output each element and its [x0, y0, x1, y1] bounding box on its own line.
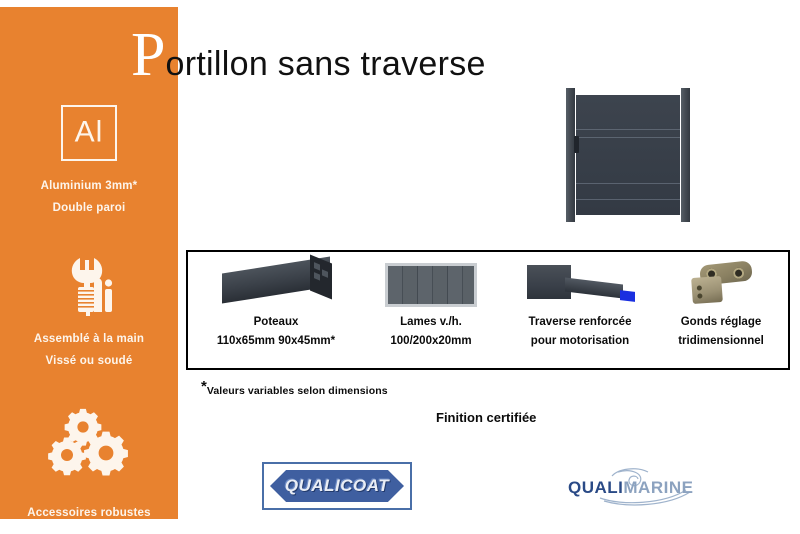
feature-label-poteaux-2: 110x65mm 90x45mm*	[196, 332, 356, 351]
qualimarine-logo: QUALIMARINE	[560, 466, 710, 506]
sidebar-label-assembly-2: Vissé ou soudé	[0, 350, 178, 372]
features-box: Poteaux 110x65mm 90x45mm* Lames v./h. 10…	[186, 250, 790, 370]
al-symbol-text: Al	[63, 115, 115, 149]
certification-heading: Finition certifiée	[436, 410, 536, 425]
feature-label-gonds-2: tridimensionnel	[654, 332, 788, 351]
feature-label-traverse-1: Traverse renforcée	[506, 313, 654, 332]
feature-gonds: Gonds réglage tridimensionnel	[654, 252, 788, 368]
page-title-initial: P	[131, 21, 165, 89]
page-title: Portillon sans traverse	[131, 24, 486, 88]
sidebar-label-aluminium-1: Aluminium 3mm*	[0, 175, 178, 197]
gate-post-left	[566, 88, 575, 222]
qualimarine-text-light: MARINE	[623, 478, 693, 497]
reinforced-crossbeam-image	[506, 257, 654, 313]
gate-panel	[576, 95, 680, 215]
wrench-tools-icon	[58, 256, 120, 316]
feature-label-lames-2: 100/200x20mm	[356, 332, 506, 351]
qualimarine-logo-text: QUALIMARINE	[568, 478, 693, 498]
sidebar-block-aluminium: Al Aluminium 3mm* Double paroi	[0, 105, 178, 219]
slats-panel-image	[356, 257, 506, 313]
sidebar-block-assembly: Assemblé à la main Vissé ou soudé	[0, 256, 178, 372]
footnote-text: Valeurs variables selon dimensions	[207, 385, 388, 397]
qualimarine-text-bold: QUALI	[568, 478, 623, 497]
feature-label-poteaux-1: Poteaux	[196, 313, 356, 332]
feature-label-lames-1: Lames v./h.	[356, 313, 506, 332]
aluminium-al-square-icon: Al	[61, 105, 117, 161]
gate-handle-icon	[574, 136, 579, 153]
sidebar-label-aluminium-2: Double paroi	[0, 197, 178, 219]
post-profile-image	[196, 257, 356, 313]
gate-product-image	[566, 88, 690, 222]
footnote: *Valeurs variables selon dimensions	[201, 381, 388, 399]
page-title-rest: ortillon sans traverse	[165, 45, 485, 83]
sidebar-label-accessories-1: Accessoires robustes	[0, 502, 178, 524]
feature-traverse: Traverse renforcée pour motorisation	[506, 252, 654, 368]
gears-icon	[43, 402, 135, 480]
sidebar-block-accessories: Accessoires robustes	[0, 402, 178, 524]
feature-lames: Lames v./h. 100/200x20mm	[356, 252, 506, 368]
qualicoat-logo-text: QUALICOAT	[264, 476, 410, 496]
feature-poteaux: Poteaux 110x65mm 90x45mm*	[196, 252, 356, 368]
feature-label-gonds-1: Gonds réglage	[654, 313, 788, 332]
feature-label-traverse-2: pour motorisation	[506, 332, 654, 351]
brochure-page: Al Aluminium 3mm* Double paroi	[0, 0, 800, 534]
gate-post-right	[681, 88, 690, 222]
hinge-bracket-image	[654, 257, 788, 313]
sidebar-label-assembly-1: Assemblé à la main	[0, 328, 178, 350]
qualicoat-logo: QUALICOAT	[262, 462, 412, 510]
